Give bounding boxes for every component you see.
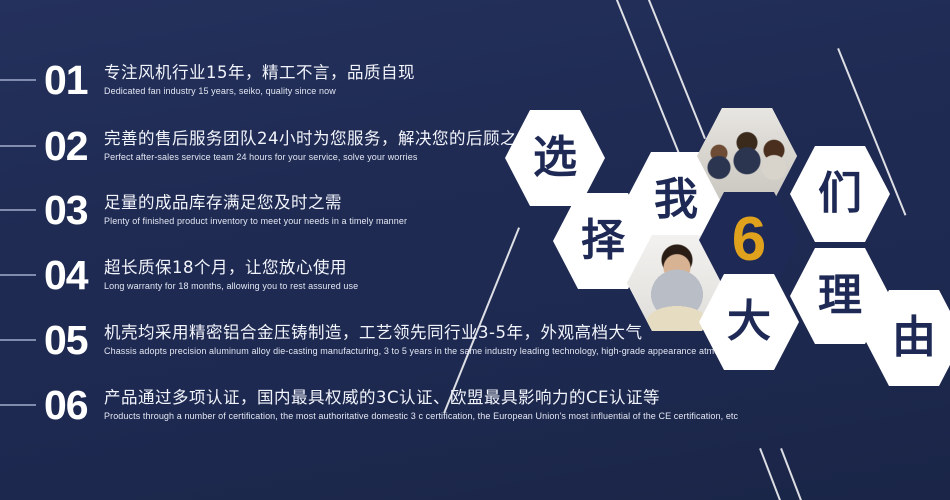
promo-banner: 01专注风机行业15年，精工不言，品质自现Dedicated fan indus… [0, 0, 950, 500]
hex-label: 选 [533, 136, 577, 180]
hex-label: 理 [818, 274, 862, 318]
hex-label: 大 [727, 300, 771, 344]
hex-men: 们 [790, 146, 890, 242]
hex-label: 择 [581, 219, 625, 263]
hexagon-cluster: 选择我6大们理由 [0, 0, 950, 500]
hex-label: 们 [818, 172, 862, 216]
hex-label: 由 [892, 316, 936, 360]
hex-xuan: 选 [505, 110, 605, 206]
hex-label: 我 [654, 178, 698, 222]
hex-label: 6 [732, 209, 766, 271]
